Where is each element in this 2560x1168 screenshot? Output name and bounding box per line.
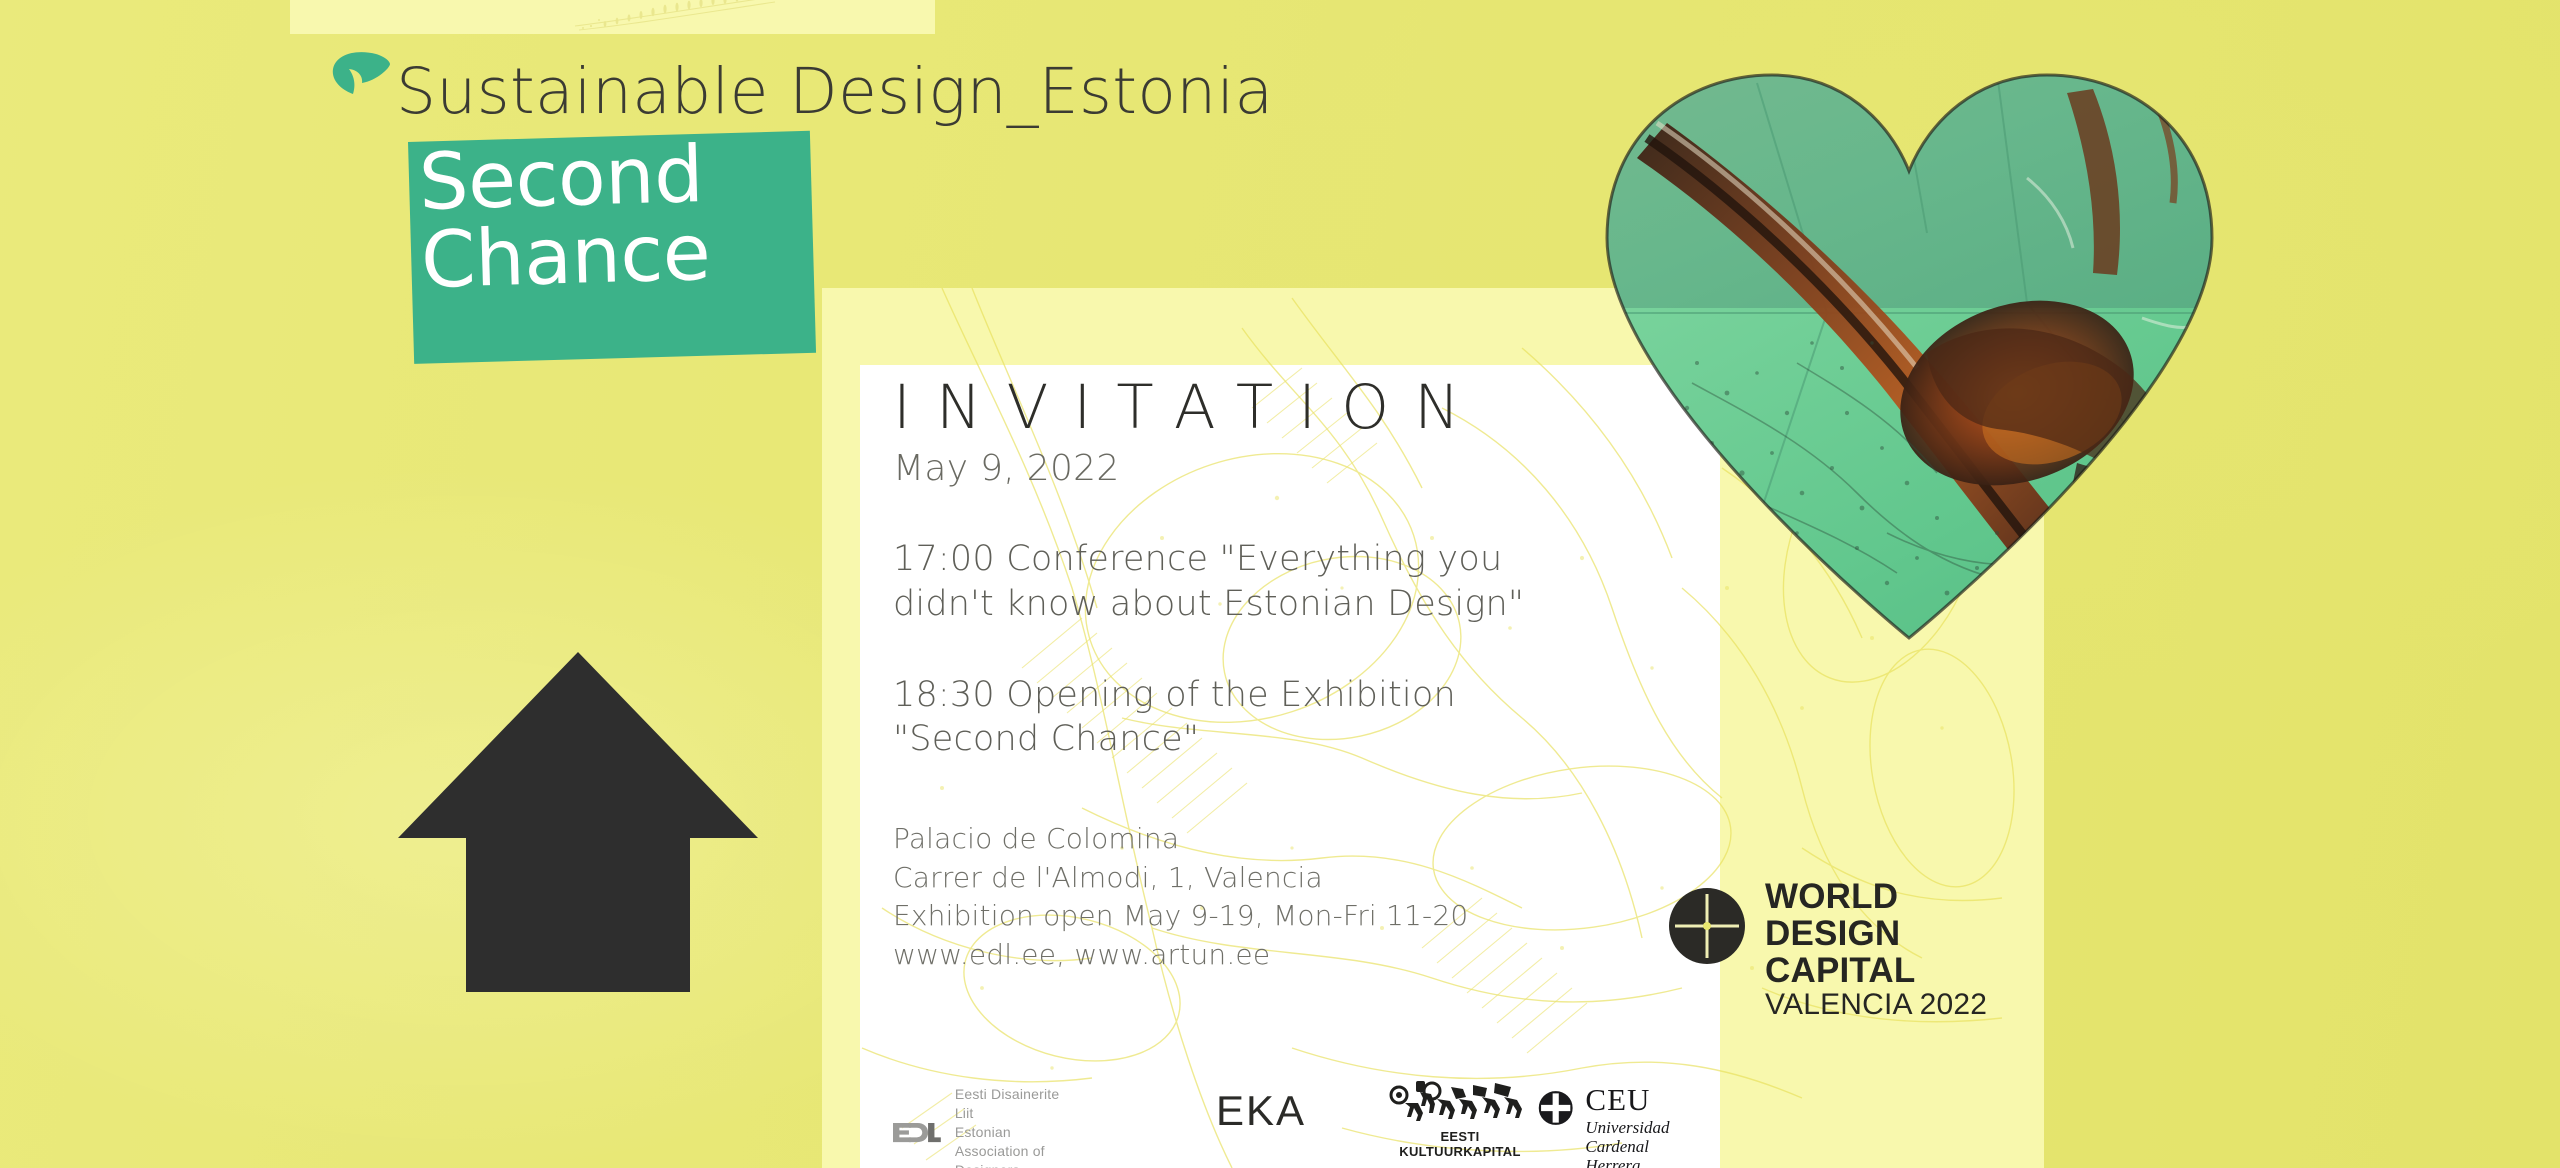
session-opening: 18:30 Opening of the Exhibition "Second … bbox=[893, 673, 1793, 763]
partner-edl: Eesti Disainerite Liit Estonian Associat… bbox=[893, 1085, 1071, 1168]
invitation-date: May 9, 2022 bbox=[893, 448, 1793, 489]
brand-wordmark: Sustainable Design_Estonia bbox=[396, 60, 1274, 123]
ceu-sub1: Universidad bbox=[1585, 1118, 1680, 1137]
partner-kulka: EESTI KULTUURKAPITAL bbox=[1385, 1077, 1535, 1159]
kulka-label: EESTI KULTUURKAPITAL bbox=[1385, 1129, 1535, 1159]
wdc-line-1: WORLD DESIGN bbox=[1765, 878, 2007, 952]
top-scribble-texture bbox=[565, 0, 895, 32]
invitation-heading: INVITATION bbox=[893, 376, 1793, 440]
top-light-panel bbox=[290, 0, 935, 34]
venue-links[interactable]: www.edl.ee, www.artun.ee bbox=[893, 936, 1793, 975]
kultuurkapital-figures-icon bbox=[1385, 1077, 1535, 1123]
ceu-cross-circle-icon bbox=[1538, 1085, 1573, 1131]
session-conference: 17:00 Conference "Everything you didn't … bbox=[893, 537, 1793, 627]
edl-name-en: Estonian Association of Designers bbox=[955, 1123, 1071, 1168]
edl-name: Eesti Disainerite Liit Estonian Associat… bbox=[955, 1085, 1071, 1168]
venue-name: Palacio de Colomina bbox=[893, 820, 1793, 859]
edl-monogram-icon bbox=[893, 1113, 941, 1151]
session-conference-line2: didn't know about Estonian Design" bbox=[893, 582, 1793, 627]
crosshair-circle-icon bbox=[1667, 886, 1747, 966]
partner-eka: EKA bbox=[1216, 1087, 1306, 1135]
session-opening-line1: 18:30 Opening of the Exhibition bbox=[893, 673, 1793, 718]
title-line-2: Chance bbox=[420, 212, 842, 298]
venue-hours: Exhibition open May 9-19, Mon-Fri 11-20 bbox=[893, 897, 1793, 936]
session-opening-line2: "Second Chance" bbox=[893, 717, 1793, 762]
wdc-text: WORLD DESIGN CAPITAL VALENCIA 2022 bbox=[1765, 878, 2007, 1021]
leaf-icon bbox=[330, 48, 392, 100]
second-chance-title: Second Chance bbox=[418, 134, 842, 298]
invitation-content: INVITATION May 9, 2022 17:00 Conference … bbox=[893, 376, 1793, 975]
edl-name-et: Eesti Disainerite Liit bbox=[955, 1085, 1071, 1123]
poster-canvas: Sustainable Design_Estonia Second Chance bbox=[0, 0, 2560, 1168]
ceu-text: CEU Universidad Cardenal Herrera bbox=[1585, 1083, 1680, 1168]
arrow-up-icon bbox=[394, 648, 762, 996]
partner-ceu: CEU Universidad Cardenal Herrera bbox=[1538, 1083, 1680, 1168]
wdc-line-3: VALENCIA 2022 bbox=[1765, 989, 2007, 1021]
eka-wordmark-icon: EKA bbox=[1216, 1087, 1306, 1135]
wdc-line-2: CAPITAL bbox=[1765, 952, 2007, 989]
ceu-sub2: Cardenal Herrera bbox=[1585, 1137, 1680, 1168]
venue-block: Palacio de Colomina Carrer de l'Almodi, … bbox=[893, 820, 1793, 975]
session-conference-line1: 17:00 Conference "Everything you bbox=[893, 537, 1793, 582]
ceu-label: CEU bbox=[1585, 1083, 1680, 1118]
venue-address: Carrer de l'Almodi, 1, Valencia bbox=[893, 859, 1793, 898]
world-design-capital-logo: WORLD DESIGN CAPITAL VALENCIA 2022 bbox=[1667, 880, 2007, 1000]
